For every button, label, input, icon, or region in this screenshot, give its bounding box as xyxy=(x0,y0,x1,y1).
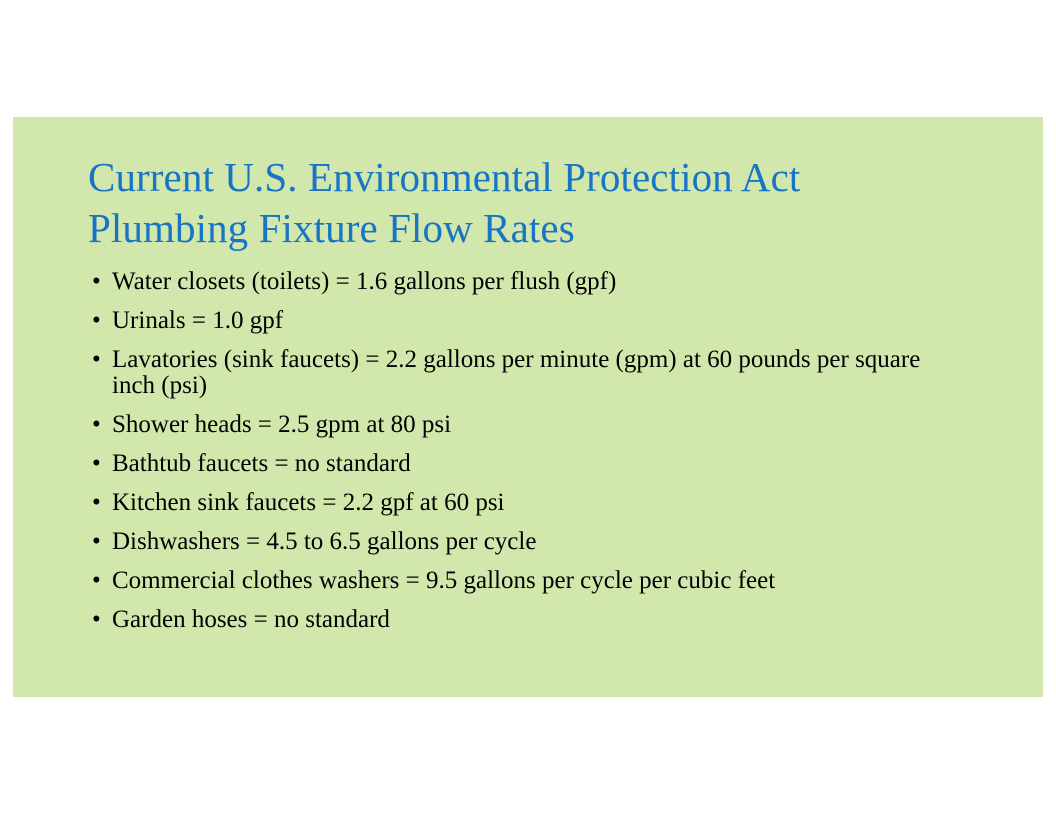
list-item-label: Lavatories (sink faucets) = 2.2 gallons … xyxy=(112,347,968,399)
list-item-label: Bathtub faucets = no standard xyxy=(112,451,968,477)
list-item: •Garden hoses = no standard xyxy=(88,607,968,633)
list-item: •Shower heads = 2.5 gpm at 80 psi xyxy=(88,412,968,438)
list-item: •Bathtub faucets = no standard xyxy=(88,451,968,477)
list-item-label: Shower heads = 2.5 gpm at 80 psi xyxy=(112,412,968,438)
list-item-label: Dishwashers = 4.5 to 6.5 gallons per cyc… xyxy=(112,529,968,555)
bullet-dot-icon: • xyxy=(92,490,106,516)
list-item: •Urinals = 1.0 gpf xyxy=(88,308,968,334)
list-item-label: Urinals = 1.0 gpf xyxy=(112,308,968,334)
list-item: •Dishwashers = 4.5 to 6.5 gallons per cy… xyxy=(88,529,968,555)
bullet-dot-icon: • xyxy=(92,451,106,477)
bullet-dot-icon: • xyxy=(92,269,106,295)
bullet-dot-icon: • xyxy=(92,568,106,594)
slide-content-panel: Current U.S. Environmental Protection Ac… xyxy=(13,117,1043,697)
list-item-label: Water closets (toilets) = 1.6 gallons pe… xyxy=(112,269,968,295)
bullet-dot-icon: • xyxy=(92,308,106,334)
bullet-dot-icon: • xyxy=(92,529,106,555)
slide-canvas: Current U.S. Environmental Protection Ac… xyxy=(0,0,1056,816)
flow-rate-bullet-list: •Water closets (toilets) = 1.6 gallons p… xyxy=(88,269,968,633)
page-title: Current U.S. Environmental Protection Ac… xyxy=(88,152,968,254)
list-item: •Commercial clothes washers = 9.5 gallon… xyxy=(88,568,968,594)
bullet-dot-icon: • xyxy=(92,607,106,633)
list-item-label: Commercial clothes washers = 9.5 gallons… xyxy=(112,568,968,594)
bullet-dot-icon: • xyxy=(92,412,106,438)
list-item: •Water closets (toilets) = 1.6 gallons p… xyxy=(88,269,968,295)
list-item-label: Garden hoses = no standard xyxy=(112,607,968,633)
list-item: •Kitchen sink faucets = 2.2 gpf at 60 ps… xyxy=(88,490,968,516)
bullet-dot-icon: • xyxy=(92,347,106,373)
list-item-label: Kitchen sink faucets = 2.2 gpf at 60 psi xyxy=(112,490,968,516)
list-item: •Lavatories (sink faucets) = 2.2 gallons… xyxy=(88,347,968,399)
slide-body: •Water closets (toilets) = 1.6 gallons p… xyxy=(88,269,968,633)
